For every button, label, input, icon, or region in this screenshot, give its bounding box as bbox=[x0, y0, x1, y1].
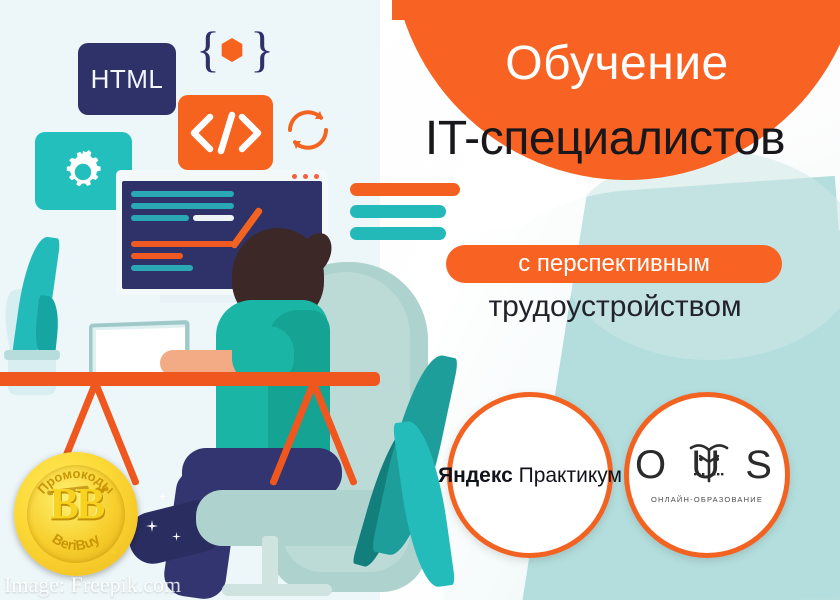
code-line bbox=[131, 203, 234, 209]
brace-left-icon: { bbox=[196, 24, 220, 74]
decor-bar-orange bbox=[350, 183, 460, 196]
page-title-line1: Обучение bbox=[392, 40, 840, 88]
window-dot bbox=[303, 174, 308, 179]
beribuy-coin-badge[interactable]: BB Промокоды BeriBuy bbox=[14, 452, 138, 576]
code-line bbox=[131, 241, 234, 247]
refresh-arrows-icon bbox=[282, 104, 334, 156]
chair-post bbox=[262, 536, 278, 590]
html-badge-card: HTML bbox=[78, 43, 176, 115]
code-line bbox=[131, 215, 189, 221]
otus-logo-group: O U S ОНЛАЙН-ОБРАЗОВАНИЕ bbox=[632, 437, 782, 513]
source-watermark: Image: Freepik.com bbox=[4, 572, 181, 598]
decor-bar-teal-2 bbox=[350, 227, 446, 240]
coin-bottom-arc-text: BeriBuy bbox=[14, 452, 138, 576]
logo-badge-yandex-praktikum[interactable]: Яндекс Практикум bbox=[447, 392, 613, 558]
decor-bar-teal-1 bbox=[350, 205, 446, 218]
gear-icon bbox=[57, 146, 109, 198]
yandex-bold-part: Яндекс bbox=[438, 464, 513, 487]
code-line bbox=[193, 215, 234, 221]
yandex-praktikum-wordmark: Яндекс Практикум bbox=[438, 465, 622, 486]
orange-arc-fill bbox=[392, 0, 840, 20]
otus-subtitle: ОНЛАЙН-ОБРАЗОВАНИЕ bbox=[632, 495, 782, 504]
code-line bbox=[131, 191, 234, 197]
window-dot bbox=[292, 174, 297, 179]
hexagon-icon bbox=[220, 38, 244, 62]
page-title-line3: трудоустройством bbox=[420, 292, 810, 322]
code-brackets-icon bbox=[188, 109, 264, 157]
code-line bbox=[131, 253, 183, 259]
window-dot bbox=[314, 174, 319, 179]
owl-icon bbox=[687, 439, 731, 487]
highlight-pill: с перспективным bbox=[446, 245, 782, 283]
curly-braces-group: { } bbox=[196, 24, 268, 76]
coin-bottom-arc-label: BeriBuy bbox=[49, 530, 102, 553]
code-brackets-card bbox=[178, 95, 273, 170]
svg-text:BeriBuy: BeriBuy bbox=[49, 530, 102, 553]
page-title-line2: IT-специалистов bbox=[370, 115, 840, 163]
chair-base bbox=[222, 584, 332, 596]
brace-right-icon: } bbox=[250, 24, 274, 74]
code-line bbox=[131, 265, 193, 271]
plant-pot-rim bbox=[4, 350, 60, 360]
highlight-pill-label: с перспективным bbox=[518, 252, 710, 276]
desk-top bbox=[0, 372, 380, 386]
html-badge-label: HTML bbox=[91, 64, 164, 95]
praktikum-regular-part: Практикум bbox=[513, 464, 622, 487]
promo-banner: HTML { } bbox=[0, 0, 840, 600]
logo-badge-otus[interactable]: O U S ОНЛАЙН-ОБРАЗОВАНИЕ bbox=[624, 392, 790, 558]
